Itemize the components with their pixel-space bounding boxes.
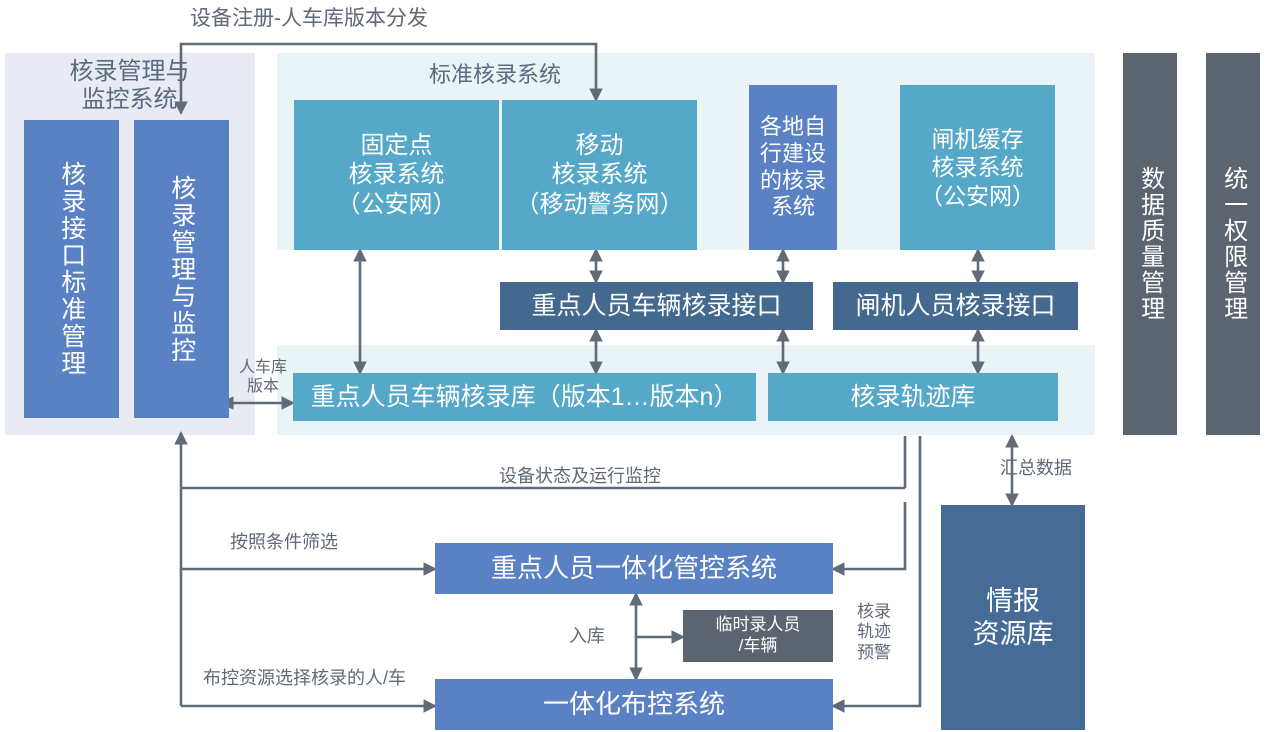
- box-mobile-system[interactable]: 移动 核录系统 （移动警务网）: [502, 100, 697, 250]
- box-key-person-integrated-control[interactable]: 重点人员一体化管控系统: [435, 543, 833, 594]
- box-label: 重点人员车辆核录接口: [531, 291, 781, 322]
- box-label: 重点人员车辆核录库（版本1…版本n）: [311, 382, 739, 413]
- box-integrated-deployment-control[interactable]: 一体化布控系统: [435, 679, 833, 730]
- edge-label-deploy-resource-select: 布控资源选择核录的人/车: [203, 668, 433, 690]
- box-label: 固定点 核录系统 （公安网）: [337, 131, 457, 219]
- box-label: 核录管理与监控: [166, 175, 197, 364]
- box-locally-built-system[interactable]: 各地自 行建设 的核录 系统: [749, 85, 837, 250]
- box-data-quality-mgmt[interactable]: 数据质量管理: [1123, 53, 1177, 435]
- box-core-mgmt-monitor[interactable]: 核录管理与监控: [134, 120, 229, 418]
- left-group-title: 核录管理与 监控系统: [22, 58, 237, 115]
- box-label: 核录接口标准管理: [56, 161, 87, 377]
- edge-label-track-alert: 核录 轨迹 预警: [850, 602, 898, 663]
- box-label: 移动 核录系统 （移动警务网）: [516, 131, 684, 219]
- box-label: 各地自 行建设 的核录 系统: [760, 114, 826, 221]
- box-label: 临时录人员 /车辆: [716, 615, 801, 656]
- box-fixed-point-system[interactable]: 固定点 核录系统 （公安网）: [294, 100, 499, 250]
- box-key-person-vehicle-interface[interactable]: 重点人员车辆核录接口: [500, 282, 813, 330]
- box-label: 数据质量管理: [1135, 166, 1164, 322]
- box-gate-person-interface[interactable]: 闸机人员核录接口: [833, 282, 1078, 330]
- box-temporary-record[interactable]: 临时录人员 /车辆: [683, 610, 833, 662]
- edge-label-filter-by-condition: 按照条件筛选: [230, 532, 390, 554]
- edge-label-device-register: 设备注册-人车库版本分发: [190, 6, 530, 31]
- box-intelligence-resource-db[interactable]: 情报 资源库: [941, 505, 1085, 730]
- box-label: 核录轨迹库: [850, 382, 975, 413]
- box-gate-cache-system[interactable]: 闸机缓存 核录系统 （公安网）: [900, 85, 1055, 250]
- box-label: 统一权限管理: [1218, 166, 1247, 322]
- edge-label-vehicle-db-version: 人车库 版本: [232, 358, 294, 396]
- box-unified-authority-mgmt[interactable]: 统一权限管理: [1206, 53, 1260, 435]
- box-label: 闸机人员核录接口: [855, 291, 1055, 322]
- box-key-person-vehicle-db[interactable]: 重点人员车辆核录库（版本1…版本n）: [293, 373, 756, 421]
- edge-label-aggregate-data: 汇总数据: [1000, 458, 1095, 480]
- standard-group-title: 标准核录系统: [290, 62, 700, 88]
- box-core-interface-standard-mgmt[interactable]: 核录接口标准管理: [24, 120, 119, 418]
- box-label: 闸机缓存 核录系统 （公安网）: [920, 125, 1035, 209]
- edge-label-device-status: 设备状态及运行监控: [455, 466, 705, 488]
- box-core-track-db[interactable]: 核录轨迹库: [768, 373, 1058, 421]
- box-label: 情报 资源库: [973, 585, 1054, 651]
- box-label: 重点人员一体化管控系统: [491, 553, 777, 585]
- architecture-diagram: 设备注册-人车库版本分发 核录管理与 监控系统 标准核录系统 核录接口标准管理 …: [0, 0, 1275, 732]
- edge-label-enter-library: 入库: [557, 626, 617, 648]
- box-label: 一体化布控系统: [543, 689, 725, 721]
